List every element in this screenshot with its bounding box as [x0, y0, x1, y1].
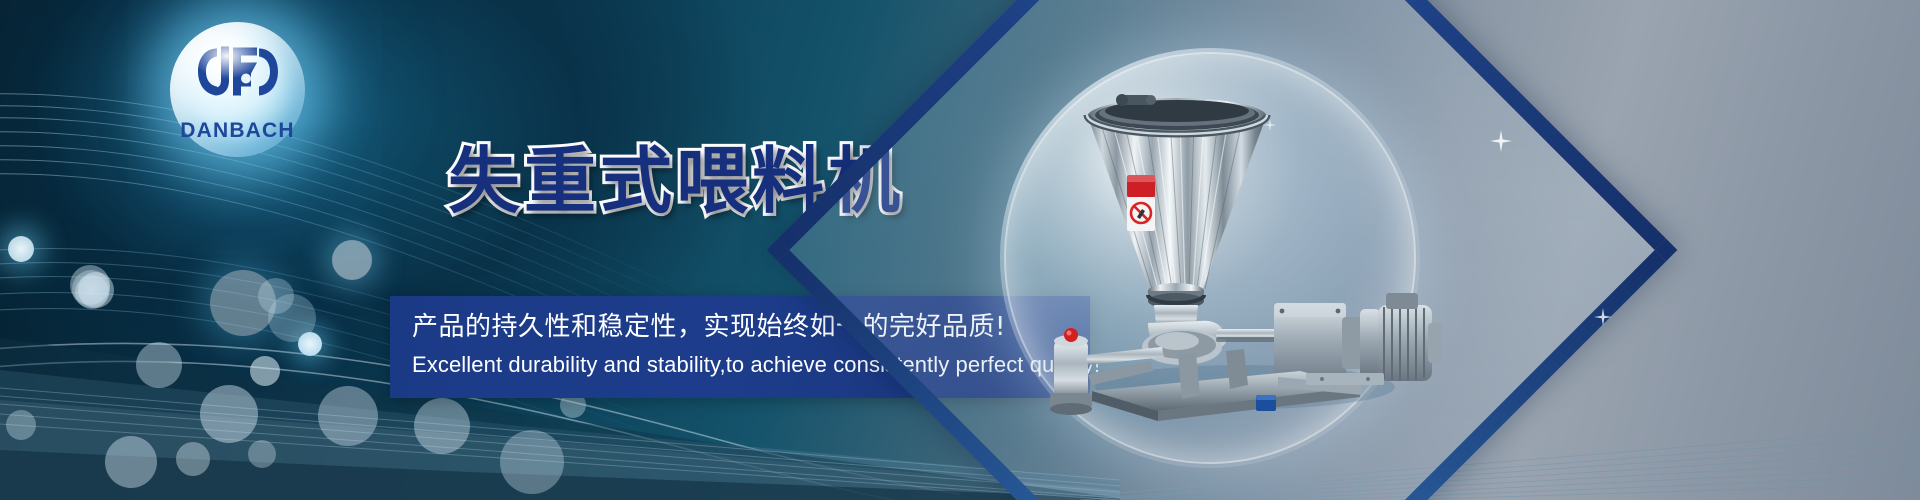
bokeh-circles-icon [136, 342, 182, 388]
bokeh-circles-icon [78, 272, 114, 308]
bokeh-circles-icon [6, 410, 36, 440]
brand-logo-sphere: DANBACH [170, 22, 305, 157]
bokeh-circles-icon [318, 386, 378, 446]
bokeh-circles-icon [200, 385, 258, 443]
bokeh-circles-icon [72, 270, 110, 308]
bokeh-circles-icon [75, 275, 109, 309]
bokeh-circles-icon [70, 265, 110, 305]
bokeh-circles-icon [105, 436, 157, 488]
bokeh-circles-icon [332, 240, 372, 280]
bokeh-circles-icon [414, 398, 470, 454]
bokeh-circles-icon [500, 430, 564, 494]
bokeh-circles-icon [248, 440, 276, 468]
bokeh-circles-icon [176, 442, 210, 476]
bokeh-circles-icon [298, 332, 322, 356]
bokeh-circles-icon [250, 356, 280, 386]
feeder-machine-photo [1030, 55, 1450, 460]
bokeh-circles-icon [8, 236, 34, 262]
bokeh-circles-icon [268, 294, 316, 342]
bokeh-circles-icon [258, 278, 294, 314]
danbach-monogram-icon [195, 43, 281, 110]
product-banner: DANBACH 失重式喂料机 产品的持久性和稳定性，实现始终如一的完好品质! E… [0, 0, 1920, 500]
bokeh-circles-icon [210, 270, 276, 336]
brand-wordmark: DANBACH [180, 119, 295, 143]
